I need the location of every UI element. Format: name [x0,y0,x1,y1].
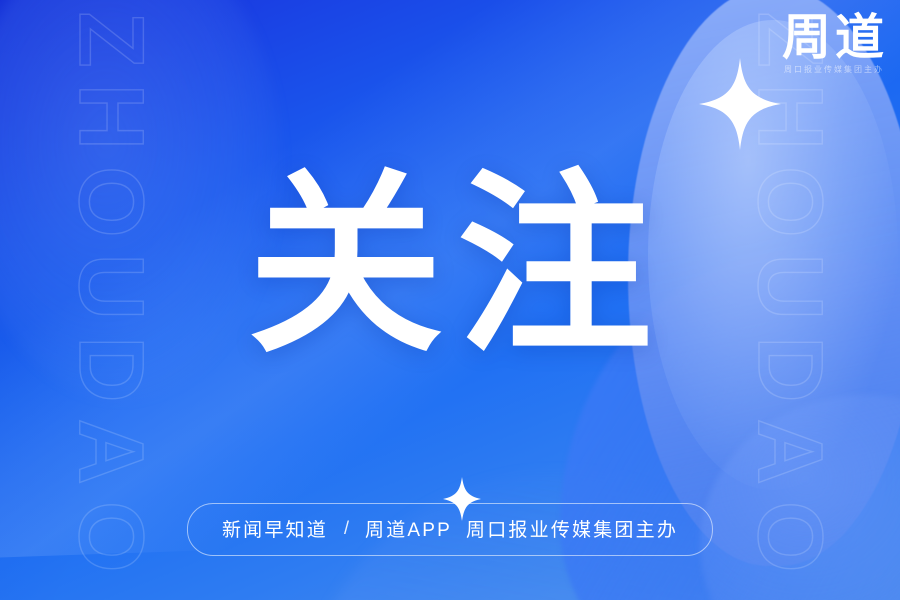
brand-logo-char-dao: 道 [835,14,884,61]
footer-banner[interactable]: 新闻早知道 / 周道APP 周口报业传媒集团主办 [187,503,713,556]
banner-slogan: 新闻早知道 [222,515,328,542]
page-title: 关注 [234,168,666,363]
banner-separator: / [342,518,351,539]
poster-canvas: ZHOUDAO ZHOUDAO 周 道 周口报业传媒集团主办 关注 新闻早知道 … [0,0,900,600]
brand-logo-mark: 周 道 [782,14,884,61]
brand-logo[interactable]: 周 道 周口报业传媒集团主办 [782,14,884,75]
banner-app-name: 周道APP [365,515,452,542]
brand-logo-char-zhou: 周 [782,14,831,61]
banner-publisher: 周口报业传媒集团主办 [466,515,678,542]
brand-logo-subtitle: 周口报业传媒集团主办 [782,64,884,75]
headline: 关注 [0,168,900,363]
